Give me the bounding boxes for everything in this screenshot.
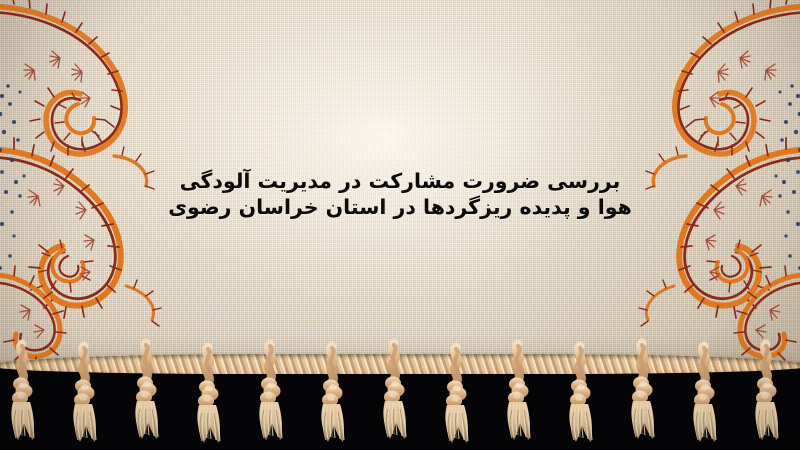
poster-title: بررسی ضرورت مشارکت در مدیریت آلودگی هوا … <box>0 168 800 220</box>
braided-hem-band <box>0 354 800 374</box>
title-line-2: هوا و پدیده ریزگردها در استان خراسان رضو… <box>0 194 800 220</box>
poster-canvas: بررسی ضرورت مشارکت در مدیریت آلودگی هوا … <box>0 0 800 450</box>
black-background-band <box>0 364 800 450</box>
title-line-1: بررسی ضرورت مشارکت در مدیریت آلودگی <box>0 168 800 194</box>
